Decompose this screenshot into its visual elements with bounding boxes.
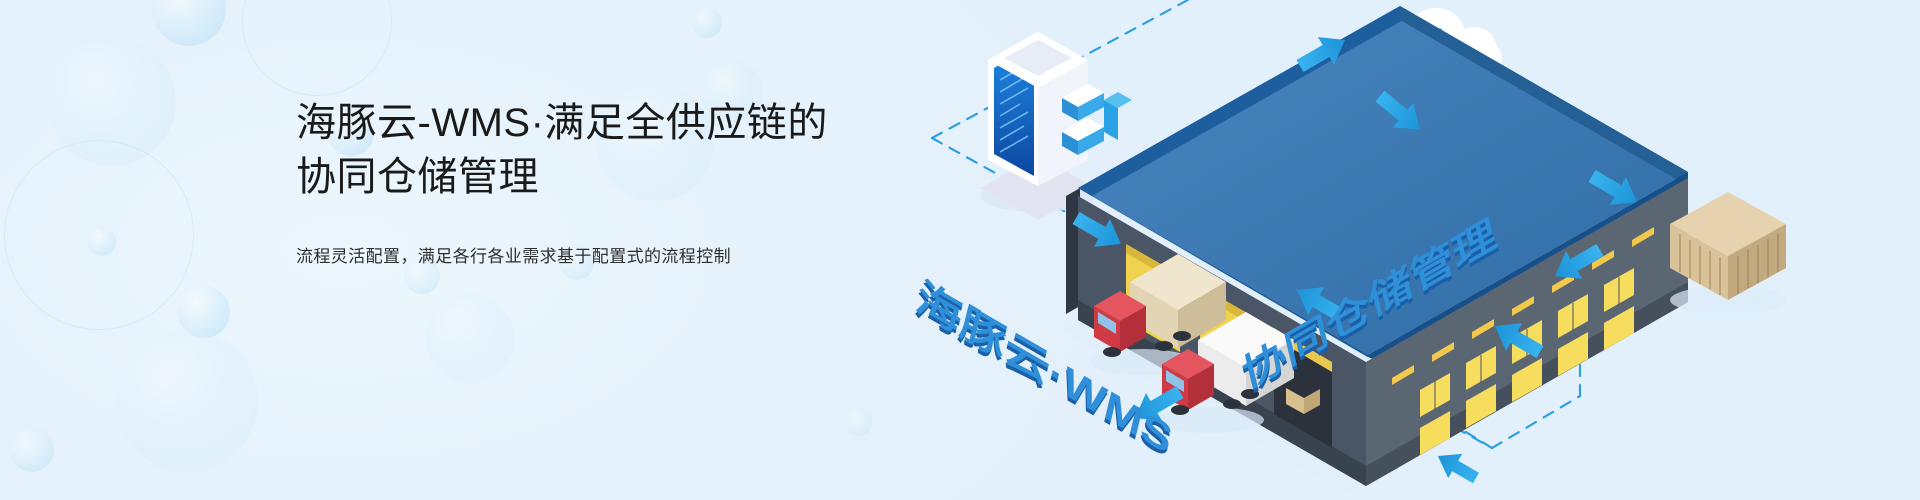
isometric-warehouse-illustration: 海豚云·WMS 海豚云·WMS 协同仓储管理 协同仓储管理 bbox=[880, 0, 1920, 500]
banner-subtitle: 流程灵活配置，满足各行各业需求基于配置式的流程控制 bbox=[296, 242, 916, 267]
bg-bubble bbox=[692, 8, 722, 38]
bg-bubble bbox=[426, 294, 514, 382]
bg-bubble-ring bbox=[242, 0, 392, 96]
hero-banner: 海豚云-WMS·满足全供应链的 协同仓储管理 流程灵活配置，满足各行各业需求基于… bbox=[0, 0, 1920, 500]
bg-bubble-ring bbox=[4, 140, 194, 330]
page-title: 海豚云-WMS·满足全供应链的 协同仓储管理 bbox=[296, 96, 916, 204]
bg-bubble bbox=[116, 330, 258, 472]
bg-bubble bbox=[846, 410, 872, 436]
bg-bubble bbox=[152, 0, 226, 46]
banner-text-block: 海豚云-WMS·满足全供应链的 协同仓储管理 流程灵活配置，满足各行各业需求基于… bbox=[296, 96, 916, 267]
bg-bubble bbox=[10, 428, 54, 472]
